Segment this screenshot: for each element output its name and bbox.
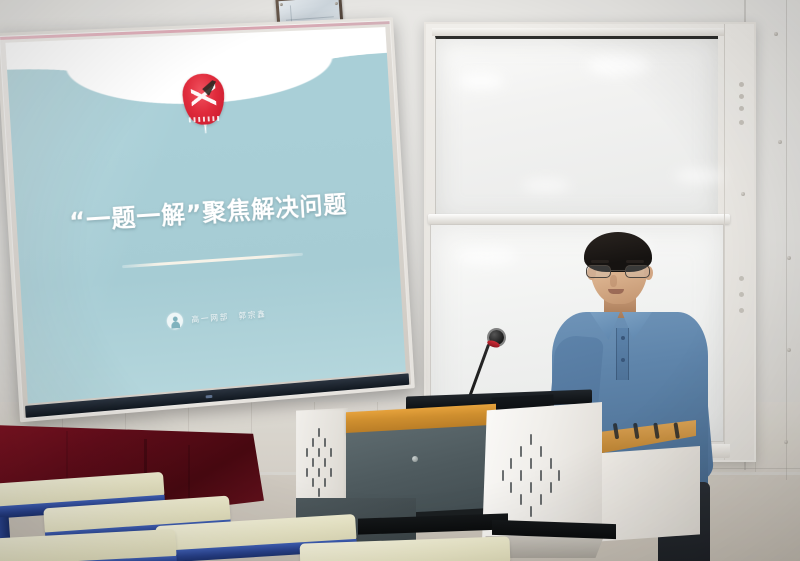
presenter-nose	[610, 275, 617, 287]
display-power-led-icon	[206, 395, 213, 398]
whiteboard-control-dot-icon[interactable]	[739, 292, 744, 297]
whiteboard-glare	[457, 247, 517, 265]
podium-lock-icon[interactable]	[412, 456, 418, 462]
whiteboard-top-rail	[432, 28, 724, 36]
presenter-eyebrow-right	[626, 260, 644, 263]
whiteboard-control-dot-icon[interactable]	[739, 82, 744, 87]
wall-screw-icon	[778, 140, 782, 144]
whiteboard-upper-panel[interactable]	[435, 36, 718, 221]
eyeglasses-icon	[586, 265, 652, 278]
whiteboard-control-dot-icon[interactable]	[739, 94, 744, 99]
classroom-photo: “一题一解”聚焦解决问题 高一网部 郭宗鑫	[0, 0, 800, 561]
podium-speaker-grille-left	[304, 426, 338, 502]
wall-screw-icon	[787, 256, 791, 260]
display-screen[interactable]: “一题一解”聚焦解决问题 高一网部 郭宗鑫	[5, 27, 405, 404]
whiteboard-glare	[588, 55, 650, 75]
presenter-eyebrow-left	[591, 260, 609, 263]
slide-byline-text: 高一网部 郭宗鑫	[191, 309, 267, 325]
whiteboard-glare	[522, 179, 570, 192]
podium-slot	[673, 422, 679, 438]
podium-slot	[633, 423, 639, 439]
eyeglass-lens-right	[625, 265, 650, 278]
slide-book-curve-left	[7, 61, 206, 144]
whiteboard-control-dot-icon[interactable]	[739, 308, 744, 313]
drape-fold	[188, 445, 190, 503]
presentation-slide: “一题一解”聚焦解决问题 高一网部 郭宗鑫	[5, 27, 405, 404]
person-avatar-icon	[166, 312, 183, 330]
projection-display[interactable]: “一题一解”聚焦解决问题 高一网部 郭宗鑫	[0, 17, 415, 422]
eyeglass-bridge	[611, 270, 625, 271]
emblem-base-text	[189, 116, 221, 122]
wall-screw-icon	[787, 348, 791, 352]
whiteboard-control-dot-icon[interactable]	[739, 106, 744, 111]
podium-slot	[653, 423, 659, 439]
whiteboard-slide-rail[interactable]	[428, 214, 730, 224]
wall-seam-vertical-2	[786, 0, 787, 480]
presenter-shirt-button	[621, 336, 625, 340]
whiteboard-control-dot-icon[interactable]	[739, 120, 744, 125]
whiteboard-glare	[674, 169, 726, 183]
podium-slot	[613, 423, 619, 439]
presenter-shirt-button	[621, 358, 625, 362]
presenter-mouth	[608, 289, 624, 294]
podium-speaker-grille-right	[502, 434, 562, 524]
eyeglass-lens-left	[586, 265, 611, 278]
wall-screw-icon	[784, 440, 788, 444]
whiteboard-glare	[458, 73, 504, 89]
school-emblem-icon	[181, 73, 226, 126]
slide-teal-field	[12, 124, 406, 404]
whiteboard-screw-icon	[741, 192, 745, 196]
wall-screw-icon	[774, 32, 778, 36]
drape-fold	[66, 431, 68, 481]
whiteboard-control-dot-icon[interactable]	[739, 276, 744, 281]
slide-book-curve-right	[201, 53, 391, 133]
whiteboard-side-rail	[724, 24, 754, 460]
